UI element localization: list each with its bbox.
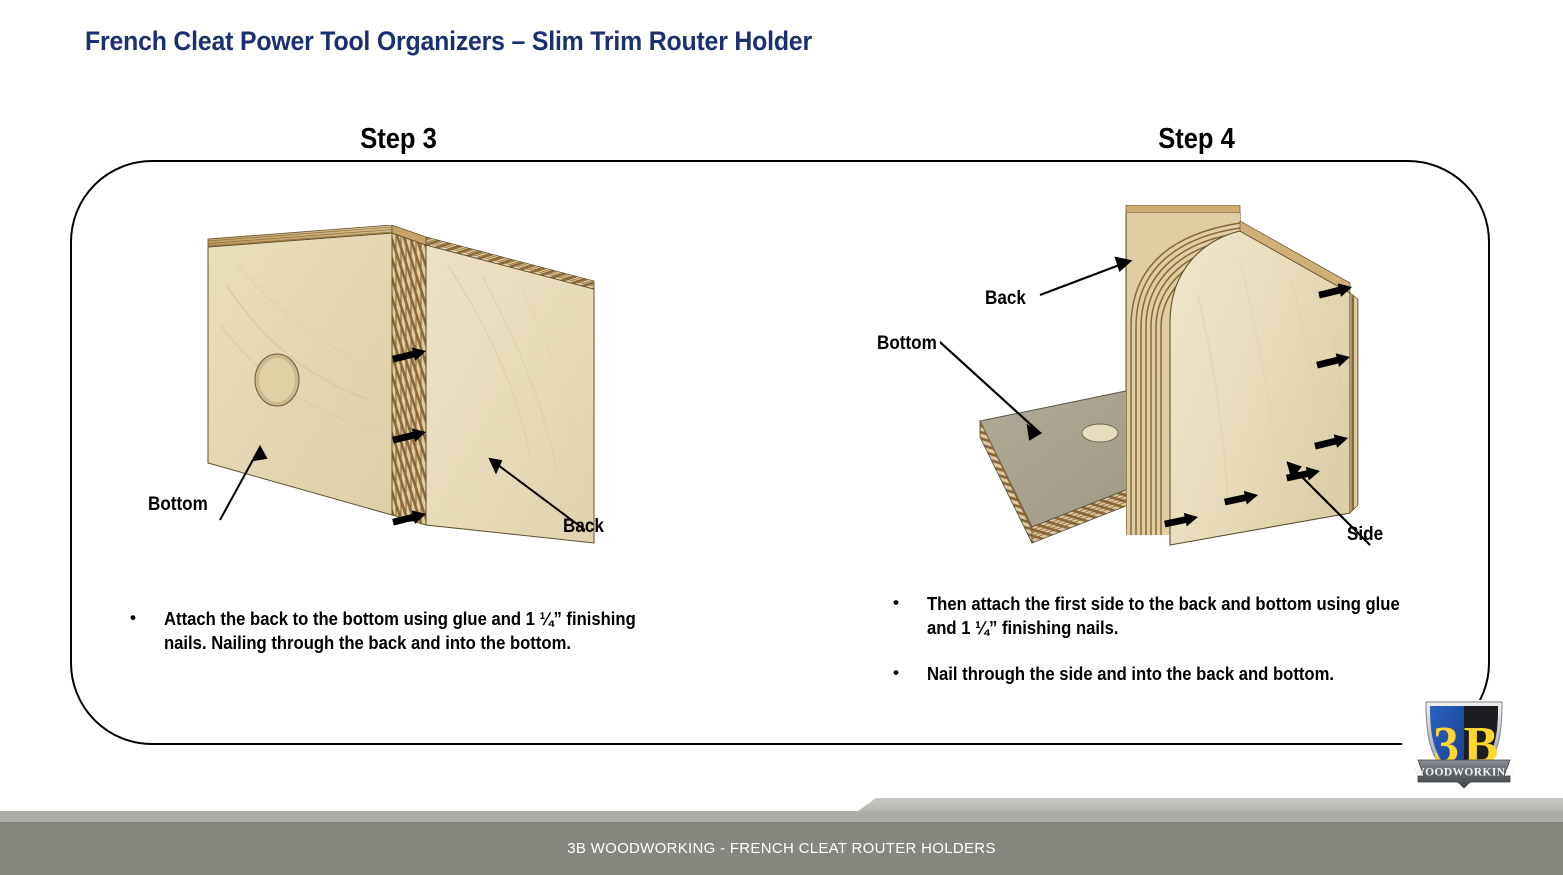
step3-ply-edge-stack — [392, 225, 426, 525]
page-title: French Cleat Power Tool Organizers – Sli… — [85, 26, 812, 57]
bullet-text: Then attach the first side to the back a… — [927, 592, 1418, 640]
footer-accent-band — [0, 811, 1563, 822]
slide-canvas: French Cleat Power Tool Organizers – Sli… — [0, 0, 1563, 875]
brand-logo-3b-woodworking: 3 B WOODWORKING — [1408, 692, 1520, 794]
logo-banner-text: WOODWORKING — [1413, 767, 1515, 779]
step3-bottom-panel — [208, 225, 392, 515]
callout-label-back-step4: Back — [985, 288, 1026, 310]
step-3-heading: Step 3 — [360, 123, 437, 156]
bullet-text: Attach the back to the bottom using glue… — [164, 607, 637, 655]
callout-label-bottom-step3: Bottom — [148, 494, 208, 516]
step-4-heading: Step 4 — [1158, 123, 1235, 156]
bullet-item: • Then attach the first side to the back… — [893, 592, 1473, 640]
callout-label-back-step3: Back — [563, 516, 604, 538]
callout-label-bottom-step4: Bottom — [877, 333, 937, 355]
callout-label-side-step4: Side — [1347, 524, 1383, 546]
step4-side-panel — [1170, 221, 1358, 545]
footer-text: 3B WOODWORKING - FRENCH CLEAT ROUTER HOL… — [0, 822, 1563, 875]
bullet-item: • Attach the back to the bottom using gl… — [130, 607, 690, 655]
bullet-marker: • — [893, 592, 927, 614]
bullet-marker: • — [130, 607, 164, 629]
step3-back-panel — [426, 237, 594, 543]
bullet-marker: • — [893, 662, 927, 684]
footer-notch-decoration — [858, 798, 1563, 811]
step-4-diagram — [940, 205, 1410, 565]
bullet-item: • Nail through the side and into the bac… — [893, 662, 1473, 686]
bullet-text: Nail through the side and into the back … — [927, 662, 1334, 686]
